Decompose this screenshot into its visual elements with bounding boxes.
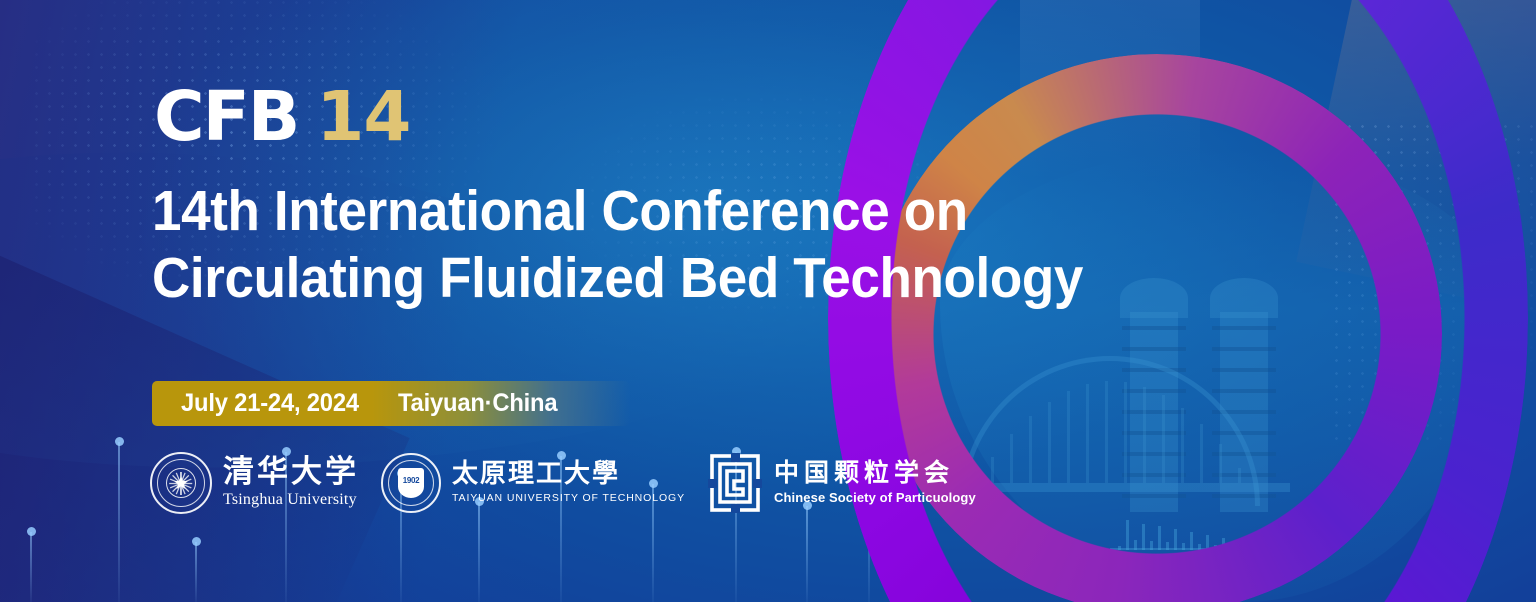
conference-banner: CFB14 14th International Conference on C… — [0, 0, 1536, 602]
tsinghua-seal-icon — [150, 452, 212, 514]
particuology-maze-icon — [707, 452, 763, 514]
date-location-badge: July 21-24, 2024 Taiyuan·China — [152, 381, 630, 426]
page-title-line-2: Circulating Fluidized Bed Technology — [152, 245, 970, 312]
sponsor-name-en: Chinese Society of Particuology — [774, 490, 976, 506]
sponsor-name-en: Tsinghua University — [223, 490, 359, 510]
sponsor-name-cn: 清华大学 — [223, 456, 359, 488]
conference-location: Taiyuan·China — [398, 389, 557, 418]
sponsor-taiyuan-university-of-technology[interactable]: 1902 太原理工大學 TAIYUAN UNIVERSITY OF TECHNO… — [381, 453, 685, 513]
conference-date: July 21-24, 2024 — [181, 389, 359, 418]
sponsor-logo-row: 清华大学 Tsinghua University 1902 太原理工大學 TAI… — [150, 452, 976, 514]
page-title: 14th International Conference on Circula… — [152, 178, 970, 313]
sponsor-name-cn: 太原理工大學 — [452, 461, 685, 488]
page-title-line-1: 14th International Conference on — [152, 178, 970, 245]
cfb-logo: CFB14 — [154, 83, 410, 152]
cfb-logo-mark: CFB — [154, 77, 298, 157]
sponsor-name-cn: 中国颗粒学会 — [774, 460, 976, 486]
cfb-logo-number: 14 — [316, 77, 410, 157]
seal-year: 1902 — [403, 476, 420, 485]
sponsor-tsinghua-university[interactable]: 清华大学 Tsinghua University — [150, 452, 359, 514]
taiyuan-seal-icon: 1902 — [381, 453, 441, 513]
sponsor-chinese-society-of-particuology[interactable]: 中国颗粒学会 Chinese Society of Particuology — [707, 452, 976, 514]
sponsor-name-en: TAIYUAN UNIVERSITY OF TECHNOLOGY — [452, 492, 685, 505]
